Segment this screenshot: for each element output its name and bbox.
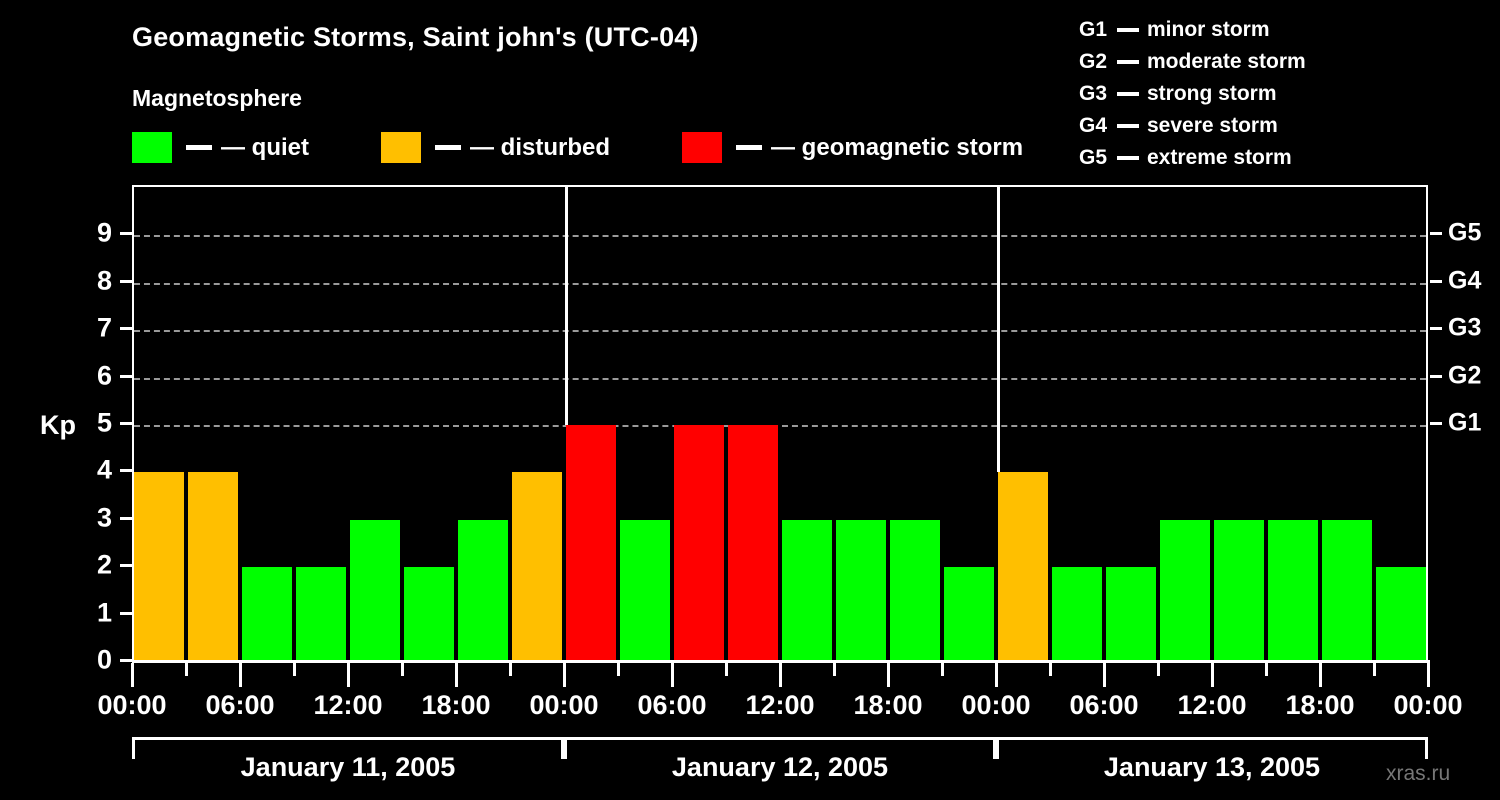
x-tick-label-11: 18:00 (1285, 690, 1354, 721)
legend: — quiet — disturbed — geomagnetic storm (132, 132, 1023, 163)
g-tick-g1 (1430, 422, 1442, 425)
y-tick-1 (120, 612, 132, 615)
date-label-0: January 11, 2005 (132, 752, 564, 783)
legend-dash-disturbed (435, 145, 461, 150)
x-tick-major-18 (1103, 663, 1106, 687)
x-tick-major-22 (1319, 663, 1322, 687)
em-dash-icon (1117, 60, 1139, 64)
g-scale-description: strong storm (1147, 78, 1277, 110)
chart-bars (134, 187, 1426, 662)
bar-quiet-21 (1268, 520, 1318, 662)
x-tick-label-7: 18:00 (853, 690, 922, 721)
y-tick-0 (120, 659, 132, 662)
bar-quiet-9 (620, 520, 670, 662)
bar-disturbed-7 (512, 472, 562, 662)
bar-quiet-23 (1376, 567, 1426, 662)
y-tick-3 (120, 517, 132, 520)
legend-swatch-disturbed (381, 132, 421, 163)
y-tick-9 (120, 232, 132, 235)
g-scale-code: G2 (1079, 46, 1109, 78)
g-axis-label-g1: G1 (1448, 409, 1481, 438)
g-scale-row-g4: G4severe storm (1079, 110, 1306, 142)
x-tick-minor-17 (1049, 663, 1052, 676)
y-tick-label-4: 4 (12, 455, 112, 486)
x-tick-label-3: 18:00 (421, 690, 490, 721)
g-scale-code: G3 (1079, 78, 1109, 110)
x-tick-major-16 (995, 663, 998, 687)
g-scale-description: moderate storm (1147, 46, 1306, 78)
x-tick-minor-21 (1265, 663, 1268, 676)
watermark: xras.ru (1386, 762, 1450, 786)
y-tick-label-1: 1 (12, 597, 112, 628)
legend-label-quiet: — quiet (221, 134, 309, 162)
x-tick-minor-15 (941, 663, 944, 676)
g-scale-code: G5 (1079, 142, 1109, 174)
em-dash-icon (1117, 156, 1139, 160)
y-tick-label-7: 7 (12, 313, 112, 344)
y-tick-label-9: 9 (12, 218, 112, 249)
x-tick-minor-5 (401, 663, 404, 676)
subtitle-magnetosphere: Magnetosphere (132, 85, 302, 112)
g-scale-row-g1: G1minor storm (1079, 14, 1306, 46)
g-scale-description: severe storm (1147, 110, 1278, 142)
legend-label-storm: — geomagnetic storm (771, 134, 1023, 162)
bar-quiet-17 (1052, 567, 1102, 662)
x-tick-minor-23 (1373, 663, 1376, 676)
x-tick-major-14 (887, 663, 890, 687)
em-dash-icon (1117, 92, 1139, 96)
g-tick-g5 (1430, 232, 1442, 235)
bar-quiet-14 (890, 520, 940, 662)
legend-item-disturbed: — disturbed (381, 132, 610, 163)
g-axis-label-g3: G3 (1448, 314, 1481, 343)
x-tick-label-6: 12:00 (745, 690, 814, 721)
y-tick-8 (120, 280, 132, 283)
g-scale-code: G1 (1079, 14, 1109, 46)
bar-quiet-13 (836, 520, 886, 662)
bar-quiet-20 (1214, 520, 1264, 662)
bar-quiet-22 (1322, 520, 1372, 662)
g-tick-g3 (1430, 327, 1442, 330)
g-scale-description: extreme storm (1147, 142, 1292, 174)
bar-disturbed-16 (998, 472, 1048, 662)
x-tick-label-8: 00:00 (961, 690, 1030, 721)
x-tick-label-9: 06:00 (1069, 690, 1138, 721)
bar-quiet-19 (1160, 520, 1210, 662)
x-tick-minor-9 (617, 663, 620, 676)
g-tick-g2 (1430, 375, 1442, 378)
x-tick-major-10 (671, 663, 674, 687)
legend-dash-quiet (186, 145, 212, 150)
g-axis-label-g4: G4 (1448, 266, 1481, 295)
legend-swatch-storm (682, 132, 722, 163)
g-scale-row-g5: G5extreme storm (1079, 142, 1306, 174)
g-scale-row-g3: G3strong storm (1079, 78, 1306, 110)
date-label-1: January 12, 2005 (564, 752, 996, 783)
bar-quiet-15 (944, 567, 994, 662)
x-tick-major-20 (1211, 663, 1214, 687)
bar-quiet-4 (350, 520, 400, 662)
x-tick-minor-13 (833, 663, 836, 676)
y-tick-6 (120, 375, 132, 378)
y-axis: 0123456789 (0, 0, 112, 800)
legend-item-storm: — geomagnetic storm (682, 132, 1023, 163)
x-tick-major-4 (347, 663, 350, 687)
legend-label-disturbed: — disturbed (470, 134, 610, 162)
bar-storm-10 (674, 425, 724, 662)
g-tick-g4 (1430, 280, 1442, 283)
em-dash-icon (1117, 124, 1139, 128)
x-tick-label-2: 12:00 (313, 690, 382, 721)
y-tick-label-2: 2 (12, 550, 112, 581)
bar-quiet-5 (404, 567, 454, 662)
y-tick-label-6: 6 (12, 360, 112, 391)
x-tick-minor-3 (293, 663, 296, 676)
g-axis-label-g2: G2 (1448, 361, 1481, 390)
x-tick-label-1: 06:00 (205, 690, 274, 721)
x-tick-label-0: 00:00 (97, 690, 166, 721)
bar-quiet-18 (1106, 567, 1156, 662)
legend-dash-storm (736, 145, 762, 150)
chart-plot-area (132, 185, 1428, 662)
y-tick-label-0: 0 (12, 645, 112, 676)
x-tick-major-0 (131, 663, 134, 687)
x-tick-major-6 (455, 663, 458, 687)
y-tick-2 (120, 564, 132, 567)
y-axis-label: Kp (40, 410, 76, 441)
bar-quiet-12 (782, 520, 832, 662)
page-title: Geomagnetic Storms, Saint john's (UTC-04… (132, 22, 699, 53)
g-scale-code: G4 (1079, 110, 1109, 142)
bar-storm-8 (566, 425, 616, 662)
bar-quiet-6 (458, 520, 508, 662)
x-tick-minor-11 (725, 663, 728, 676)
x-tick-minor-1 (185, 663, 188, 676)
x-tick-label-10: 12:00 (1177, 690, 1246, 721)
x-tick-minor-19 (1157, 663, 1160, 676)
legend-swatch-quiet (132, 132, 172, 163)
x-tick-label-4: 00:00 (529, 690, 598, 721)
g-scale-legend: G1minor stormG2moderate stormG3strong st… (1079, 14, 1306, 174)
y-tick-label-3: 3 (12, 502, 112, 533)
legend-item-quiet: — quiet (132, 132, 309, 163)
em-dash-icon (1117, 28, 1139, 32)
date-label-2: January 13, 2005 (996, 752, 1428, 783)
bar-disturbed-0 (134, 472, 184, 662)
x-tick-major-12 (779, 663, 782, 687)
g-axis-label-g5: G5 (1448, 219, 1481, 248)
x-tick-major-24 (1427, 663, 1430, 687)
bar-storm-11 (728, 425, 778, 662)
y-tick-4 (120, 469, 132, 472)
x-tick-minor-7 (509, 663, 512, 676)
bar-disturbed-1 (188, 472, 238, 662)
x-tick-major-8 (563, 663, 566, 687)
y-tick-5 (120, 422, 132, 425)
x-tick-major-2 (239, 663, 242, 687)
g-scale-row-g2: G2moderate storm (1079, 46, 1306, 78)
bar-quiet-2 (242, 567, 292, 662)
bar-quiet-3 (296, 567, 346, 662)
g-scale-description: minor storm (1147, 14, 1270, 46)
y-tick-7 (120, 327, 132, 330)
x-tick-label-5: 06:00 (637, 690, 706, 721)
x-tick-label-12: 00:00 (1393, 690, 1462, 721)
y-tick-label-8: 8 (12, 265, 112, 296)
